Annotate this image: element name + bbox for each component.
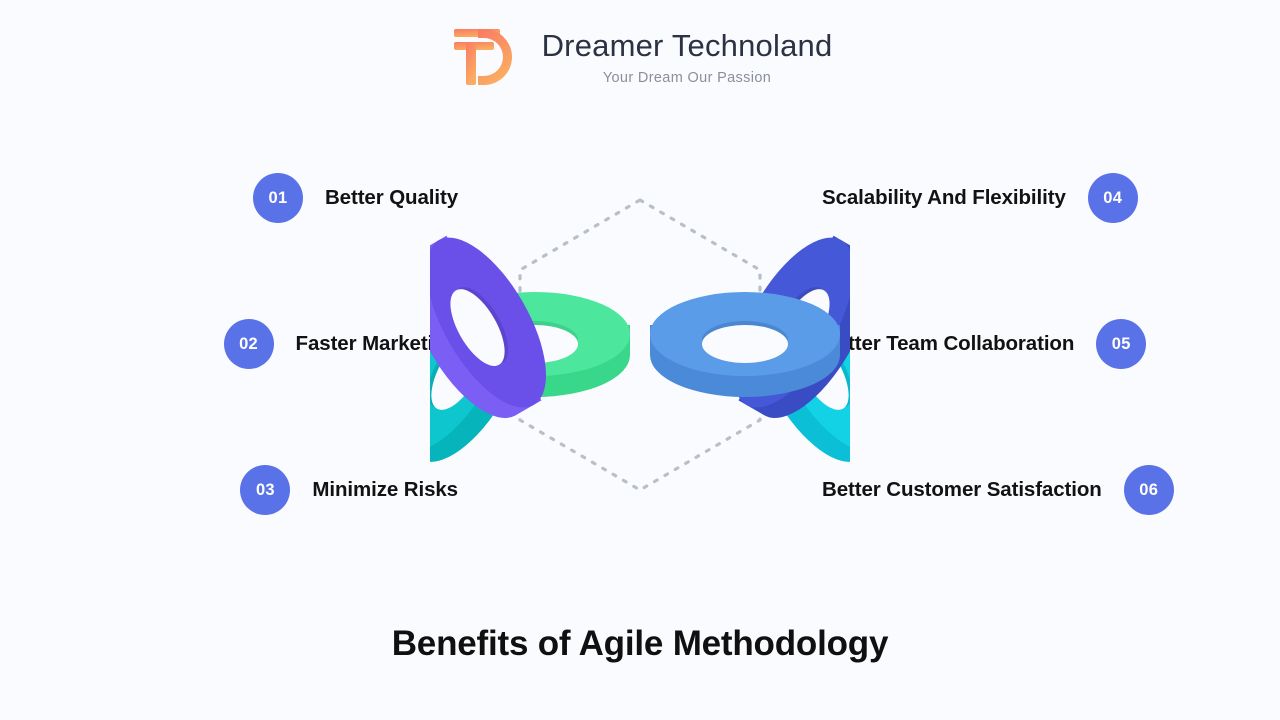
benefit-item-06[interactable]: 06 Better Customer Satisfaction — [822, 460, 1174, 520]
benefit-badge-06: 06 — [1124, 465, 1174, 515]
benefits-right-column: 04 Scalability And Flexibility 05 Better… — [822, 168, 1262, 520]
brand-text-block: Dreamer Technoland Your Dream Our Passio… — [542, 28, 833, 86]
benefit-item-05[interactable]: 05 Better Team Collaboration — [822, 314, 1146, 374]
torus-flower-svg — [430, 150, 850, 560]
benefit-badge-05: 05 — [1096, 319, 1146, 369]
benefit-item-02[interactable]: 02 Faster Marketing — [224, 314, 458, 374]
benefit-label-06: Better Customer Satisfaction — [822, 478, 1102, 502]
benefits-left-column: 01 Better Quality 02 Faster Marketing 03… — [18, 168, 458, 520]
page-title: Benefits of Agile Methodology — [0, 624, 1280, 664]
benefit-item-03[interactable]: 03 Minimize Risks — [240, 460, 458, 520]
benefit-item-04[interactable]: 04 Scalability And Flexibility — [822, 168, 1138, 228]
brand-tagline: Your Dream Our Passion — [603, 70, 771, 86]
benefit-badge-04: 04 — [1088, 173, 1138, 223]
benefit-badge-03: 03 — [240, 465, 290, 515]
benefit-badge-01: 01 — [253, 173, 303, 223]
benefit-label-04: Scalability And Flexibility — [822, 186, 1066, 210]
benefit-item-01[interactable]: 01 Better Quality — [253, 168, 458, 228]
torus-petal-right-blue[interactable] — [650, 292, 840, 397]
torus-flower-diagram — [430, 150, 850, 560]
brand-header: Dreamer Technoland Your Dream Our Passio… — [0, 24, 1280, 90]
brand-name: Dreamer Technoland — [542, 30, 833, 63]
benefit-badge-02: 02 — [224, 319, 274, 369]
benefit-label-05: Better Team Collaboration — [822, 332, 1074, 356]
td-monogram-logo-icon — [448, 24, 526, 90]
